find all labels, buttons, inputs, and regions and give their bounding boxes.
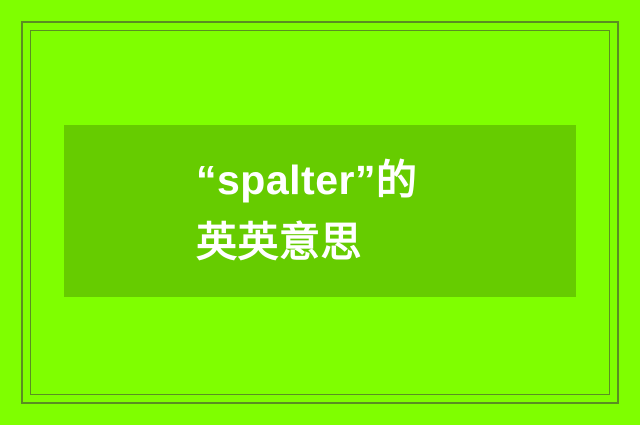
page-title: “spalter”的英英意思: [196, 149, 444, 273]
title-panel: “spalter”的英英意思: [64, 125, 576, 297]
poster-canvas: “spalter”的英英意思: [0, 0, 640, 425]
